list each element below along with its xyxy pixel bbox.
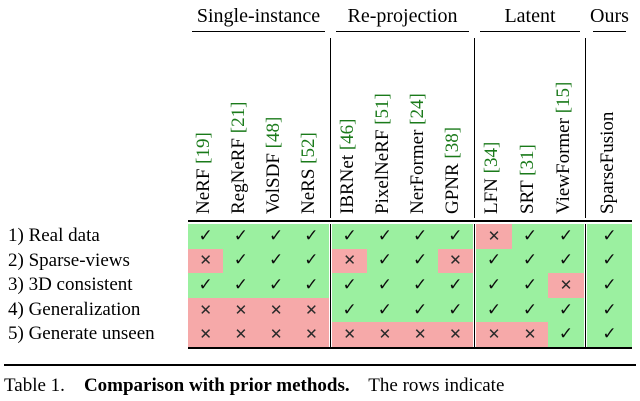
- cell-2-12: ✓: [587, 249, 632, 274]
- citation-ref: [46]: [337, 118, 358, 150]
- table-caption: Table 1. Comparison with prior methods. …: [4, 374, 636, 398]
- cell-2-5: ✕: [332, 249, 367, 274]
- cell-3-3: ✓: [259, 273, 294, 298]
- cross-icon: ✕: [488, 327, 501, 342]
- cell-5-5: ✕: [332, 322, 367, 347]
- check-icon: ✓: [487, 252, 501, 269]
- check-icon: ✓: [378, 302, 392, 319]
- figure-separator-rule: [4, 364, 636, 366]
- cell-5-4: ✕: [294, 322, 329, 347]
- column-group-header-band: Single-instanceRe-projectionLatentOurs: [0, 0, 640, 36]
- check-icon: ✓: [304, 277, 318, 294]
- column-header-lfn: LFN [34]: [482, 38, 501, 214]
- cell-3-11: ✕: [548, 273, 584, 298]
- cell-4-8: ✓: [438, 298, 473, 323]
- citation-ref: [52]: [298, 132, 319, 164]
- cell-4-3: ✕: [259, 298, 294, 323]
- check-icon: ✓: [523, 277, 537, 294]
- method-name: GPNR: [442, 163, 463, 214]
- cross-icon: ✕: [343, 327, 356, 342]
- check-icon: ✓: [199, 277, 213, 294]
- citation-ref: [34]: [481, 142, 502, 174]
- column-header-nerf: NeRF [19]: [194, 38, 213, 214]
- method-name: RegNeRF: [228, 138, 249, 214]
- cross-icon: ✕: [235, 303, 248, 318]
- cell-5-11: ✓: [548, 322, 584, 347]
- column-header-srt: SRT [31]: [518, 38, 537, 214]
- cell-5-7: ✕: [403, 322, 438, 347]
- group-divider: [330, 38, 332, 218]
- check-icon: ✓: [602, 302, 616, 319]
- cell-3-9: ✓: [476, 273, 512, 298]
- table-top-rule: [188, 220, 632, 222]
- cross-icon: ✕: [449, 253, 462, 268]
- cell-3-5: ✓: [332, 273, 367, 298]
- column-header-band: NeRF [19]RegNeRF [21]VolSDF [48]NeRS [52…: [0, 36, 640, 218]
- cell-4-2: ✕: [223, 298, 258, 323]
- cell-2-3: ✓: [259, 249, 294, 274]
- cell-1-11: ✓: [548, 224, 584, 249]
- table-bottom-rule: [188, 347, 632, 349]
- cell-3-10: ✓: [512, 273, 548, 298]
- citation-ref: [38]: [442, 127, 463, 159]
- cell-3-7: ✓: [403, 273, 438, 298]
- cell-2-9: ✓: [476, 249, 512, 274]
- column-group-label: Ours: [587, 4, 632, 28]
- cross-icon: ✕: [449, 327, 462, 342]
- cell-2-2: ✓: [223, 249, 258, 274]
- citation-ref: [48]: [263, 117, 284, 149]
- check-icon: ✓: [413, 302, 427, 319]
- cell-4-12: ✓: [587, 298, 632, 323]
- cell-2-1: ✕: [188, 249, 223, 274]
- group-divider: [474, 224, 476, 347]
- check-icon: ✓: [378, 252, 392, 269]
- check-icon: ✓: [304, 228, 318, 245]
- column-header-volsdf: VolSDF [48]: [264, 38, 283, 214]
- cell-1-9: ✕: [476, 224, 512, 249]
- check-icon: ✓: [378, 228, 392, 245]
- comparison-grid: ✓✓✓✓✓✓✓✓✕✓✓✓✕✓✓✓✕✓✓✕✓✓✓✓✓✓✓✓✓✓✓✓✓✓✕✓✕✕✕✕…: [188, 224, 632, 347]
- check-icon: ✓: [602, 252, 616, 269]
- method-name: IBRNet: [337, 155, 358, 214]
- cell-5-8: ✕: [438, 322, 473, 347]
- cell-5-6: ✕: [367, 322, 402, 347]
- method-name: NerFormer: [407, 130, 428, 214]
- cross-icon: ✕: [199, 253, 212, 268]
- method-name: VolSDF: [263, 153, 284, 214]
- table-row: ✓✓✓✓✓✓✓✓✕✓✓✓: [188, 224, 632, 249]
- cross-icon: ✕: [270, 303, 283, 318]
- cell-5-9: ✕: [476, 322, 512, 347]
- row-label: 1) Real data: [8, 224, 188, 249]
- cell-3-4: ✓: [294, 273, 329, 298]
- column-header-ners: NeRS [52]: [299, 38, 318, 214]
- cell-3-8: ✓: [438, 273, 473, 298]
- cross-icon: ✕: [199, 303, 212, 318]
- cell-4-9: ✓: [476, 298, 512, 323]
- citation-ref: [19]: [193, 132, 214, 164]
- cell-4-10: ✓: [512, 298, 548, 323]
- cell-2-7: ✓: [403, 249, 438, 274]
- citation-ref: [21]: [228, 102, 249, 134]
- check-icon: ✓: [343, 302, 357, 319]
- check-icon: ✓: [559, 326, 573, 343]
- cell-2-4: ✓: [294, 249, 329, 274]
- cell-3-1: ✓: [188, 273, 223, 298]
- cross-icon: ✕: [560, 278, 573, 293]
- column-group-rule: [593, 31, 626, 32]
- column-header-regnerf: RegNeRF [21]: [229, 38, 248, 214]
- caption-label: Table 1.: [4, 375, 65, 396]
- column-group-label: Latent: [476, 4, 584, 28]
- check-icon: ✓: [602, 277, 616, 294]
- cell-5-10: ✕: [512, 322, 548, 347]
- table-row: ✕✕✕✕✓✓✓✓✓✓✓✓: [188, 298, 632, 323]
- row-label: 5) Generate unseen: [8, 322, 188, 347]
- cell-1-7: ✓: [403, 224, 438, 249]
- cross-icon: ✕: [524, 327, 537, 342]
- check-icon: ✓: [234, 277, 248, 294]
- cross-icon: ✕: [235, 327, 248, 342]
- cell-1-2: ✓: [223, 224, 258, 249]
- column-header-sparsefusion: SparseFusion: [598, 38, 617, 214]
- cell-5-2: ✕: [223, 322, 258, 347]
- citation-ref: [51]: [372, 93, 393, 125]
- group-divider: [330, 224, 332, 347]
- row-label: 3) 3D consistent: [8, 273, 188, 298]
- method-name: ViewFormer: [553, 118, 574, 214]
- citation-ref: [24]: [407, 93, 428, 125]
- check-icon: ✓: [523, 252, 537, 269]
- check-icon: ✓: [523, 302, 537, 319]
- cell-2-8: ✕: [438, 249, 473, 274]
- table-figure: Single-instanceRe-projectionLatentOurs N…: [0, 0, 640, 401]
- group-divider: [585, 224, 587, 347]
- check-icon: ✓: [269, 252, 283, 269]
- check-icon: ✓: [413, 228, 427, 245]
- cross-icon: ✕: [305, 327, 318, 342]
- cross-icon: ✕: [305, 303, 318, 318]
- check-icon: ✓: [559, 228, 573, 245]
- check-icon: ✓: [487, 277, 501, 294]
- row-label: 2) Sparse-views: [8, 249, 188, 274]
- cross-icon: ✕: [414, 327, 427, 342]
- check-icon: ✓: [602, 228, 616, 245]
- column-group-label: Re-projection: [332, 4, 473, 28]
- method-name: SRT: [517, 181, 538, 214]
- table-row: ✕✕✕✕✕✕✕✕✕✕✓✓: [188, 322, 632, 347]
- cell-5-3: ✕: [259, 322, 294, 347]
- check-icon: ✓: [559, 252, 573, 269]
- cell-1-4: ✓: [294, 224, 329, 249]
- cross-icon: ✕: [488, 229, 501, 244]
- column-header-pixelnerf: PixelNeRF [51]: [373, 38, 392, 214]
- group-divider: [474, 38, 476, 218]
- check-icon: ✓: [378, 277, 392, 294]
- method-name: NeRS: [298, 169, 319, 214]
- cross-icon: ✕: [343, 253, 356, 268]
- cell-1-1: ✓: [188, 224, 223, 249]
- cell-4-6: ✓: [367, 298, 402, 323]
- check-icon: ✓: [448, 228, 462, 245]
- cell-2-10: ✓: [512, 249, 548, 274]
- cell-1-6: ✓: [367, 224, 402, 249]
- cell-4-5: ✓: [332, 298, 367, 323]
- column-group-rule: [192, 31, 325, 32]
- column-header-viewformer: ViewFormer [15]: [554, 38, 573, 214]
- cross-icon: ✕: [270, 327, 283, 342]
- check-icon: ✓: [269, 277, 283, 294]
- cell-3-12: ✓: [587, 273, 632, 298]
- column-header-nerformer: NerFormer [24]: [408, 38, 427, 214]
- column-group-rule: [480, 31, 580, 32]
- group-divider: [585, 38, 587, 218]
- check-icon: ✓: [487, 302, 501, 319]
- cell-2-11: ✓: [548, 249, 584, 274]
- method-name: SparseFusion: [597, 112, 618, 214]
- column-header-gpnr: GPNR [38]: [443, 38, 462, 214]
- cell-1-10: ✓: [512, 224, 548, 249]
- check-icon: ✓: [448, 277, 462, 294]
- column-group-rule: [336, 31, 469, 32]
- cell-1-12: ✓: [587, 224, 632, 249]
- check-icon: ✓: [269, 228, 283, 245]
- row-label-column: 1) Real data2) Sparse-views3) 3D consist…: [8, 224, 188, 347]
- citation-ref: [31]: [517, 144, 538, 176]
- column-header-ibrnet: IBRNet [46]: [338, 38, 357, 214]
- method-name: PixelNeRF: [372, 130, 393, 214]
- check-icon: ✓: [234, 252, 248, 269]
- cell-4-1: ✕: [188, 298, 223, 323]
- check-icon: ✓: [343, 277, 357, 294]
- cell-1-3: ✓: [259, 224, 294, 249]
- method-name: LFN: [481, 178, 502, 214]
- cell-5-12: ✓: [587, 322, 632, 347]
- cross-icon: ✕: [379, 327, 392, 342]
- cross-icon: ✕: [199, 327, 212, 342]
- caption-title: Comparison with prior methods.: [84, 375, 350, 396]
- cell-1-8: ✓: [438, 224, 473, 249]
- caption-body: The rows indicate: [368, 375, 504, 396]
- table-row: ✓✓✓✓✓✓✓✓✓✓✕✓: [188, 273, 632, 298]
- check-icon: ✓: [413, 252, 427, 269]
- check-icon: ✓: [413, 277, 427, 294]
- check-icon: ✓: [448, 302, 462, 319]
- check-icon: ✓: [343, 228, 357, 245]
- cell-3-2: ✓: [223, 273, 258, 298]
- cell-5-1: ✕: [188, 322, 223, 347]
- cell-3-6: ✓: [367, 273, 402, 298]
- check-icon: ✓: [234, 228, 248, 245]
- column-group-label: Single-instance: [188, 4, 329, 28]
- check-icon: ✓: [304, 252, 318, 269]
- method-name: NeRF: [193, 169, 214, 214]
- check-icon: ✓: [559, 302, 573, 319]
- cell-1-5: ✓: [332, 224, 367, 249]
- citation-ref: [15]: [553, 82, 574, 114]
- check-icon: ✓: [602, 326, 616, 343]
- check-icon: ✓: [523, 228, 537, 245]
- check-icon: ✓: [199, 228, 213, 245]
- row-label: 4) Generalization: [8, 298, 188, 323]
- cell-2-6: ✓: [367, 249, 402, 274]
- cell-4-11: ✓: [548, 298, 584, 323]
- cell-4-4: ✕: [294, 298, 329, 323]
- cell-4-7: ✓: [403, 298, 438, 323]
- table-row: ✕✓✓✓✕✓✓✕✓✓✓✓: [188, 249, 632, 274]
